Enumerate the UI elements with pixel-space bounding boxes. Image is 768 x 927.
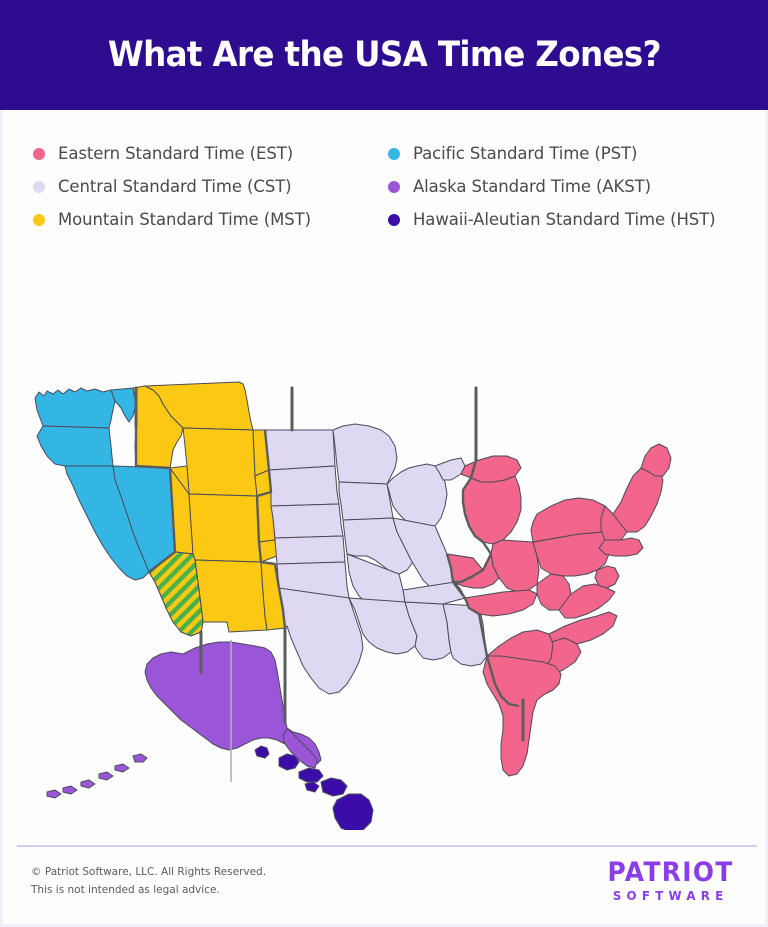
legend-swatch-icon-est (33, 148, 45, 160)
zone-eastern (447, 444, 671, 776)
legend-swatch-icon-pst (388, 148, 400, 160)
legend-label-est: Eastern Standard Time (EST) (58, 144, 293, 163)
legend-item-est: Eastern Standard Time (EST) (33, 144, 388, 163)
copyright-text: © Patriot Software, LLC. All Rights Rese… (31, 863, 266, 881)
legend-item-akst: Alaska Standard Time (AKST) (388, 177, 768, 196)
legend-item-mst: Mountain Standard Time (MST) (33, 210, 388, 229)
legend-label-pst: Pacific Standard Time (PST) (413, 144, 637, 163)
footer: © Patriot Software, LLC. All Rights Rese… (3, 855, 768, 927)
infographic-page: What Are the USA Time Zones? Eastern Sta… (0, 0, 768, 927)
header-banner: What Are the USA Time Zones? (0, 0, 768, 110)
footer-legal-text: © Patriot Software, LLC. All Rights Rese… (31, 855, 266, 900)
map-svg (3, 270, 768, 830)
usa-time-zone-map (3, 270, 768, 830)
footer-divider (17, 845, 757, 847)
content-card: Eastern Standard Time (EST) Pacific Stan… (0, 110, 768, 927)
legend: Eastern Standard Time (EST) Pacific Stan… (3, 144, 768, 229)
legend-swatch-icon-hst (388, 214, 400, 226)
legend-swatch-icon-mst (33, 214, 45, 226)
legend-label-akst: Alaska Standard Time (AKST) (413, 177, 651, 196)
legend-item-cst: Central Standard Time (CST) (33, 177, 388, 196)
legend-swatch-icon-cst (33, 181, 45, 193)
disclaimer-text: This is not intended as legal advice. (31, 881, 266, 899)
brand-name: PATRIOT (607, 859, 733, 886)
legend-label-cst: Central Standard Time (CST) (58, 177, 292, 196)
patriot-software-logo: PATRIOT SOFTWARE (602, 855, 739, 903)
legend-item-pst: Pacific Standard Time (PST) (388, 144, 768, 163)
page-title: What Are the USA Time Zones? (107, 35, 660, 75)
brand-subtitle: SOFTWARE (605, 890, 735, 903)
legend-swatch-icon-akst (388, 181, 400, 193)
zone-alaska (47, 642, 321, 798)
legend-item-hst: Hawaii-Aleutian Standard Time (HST) (388, 210, 768, 229)
legend-label-mst: Mountain Standard Time (MST) (58, 210, 311, 229)
legend-label-hst: Hawaii-Aleutian Standard Time (HST) (413, 210, 716, 229)
